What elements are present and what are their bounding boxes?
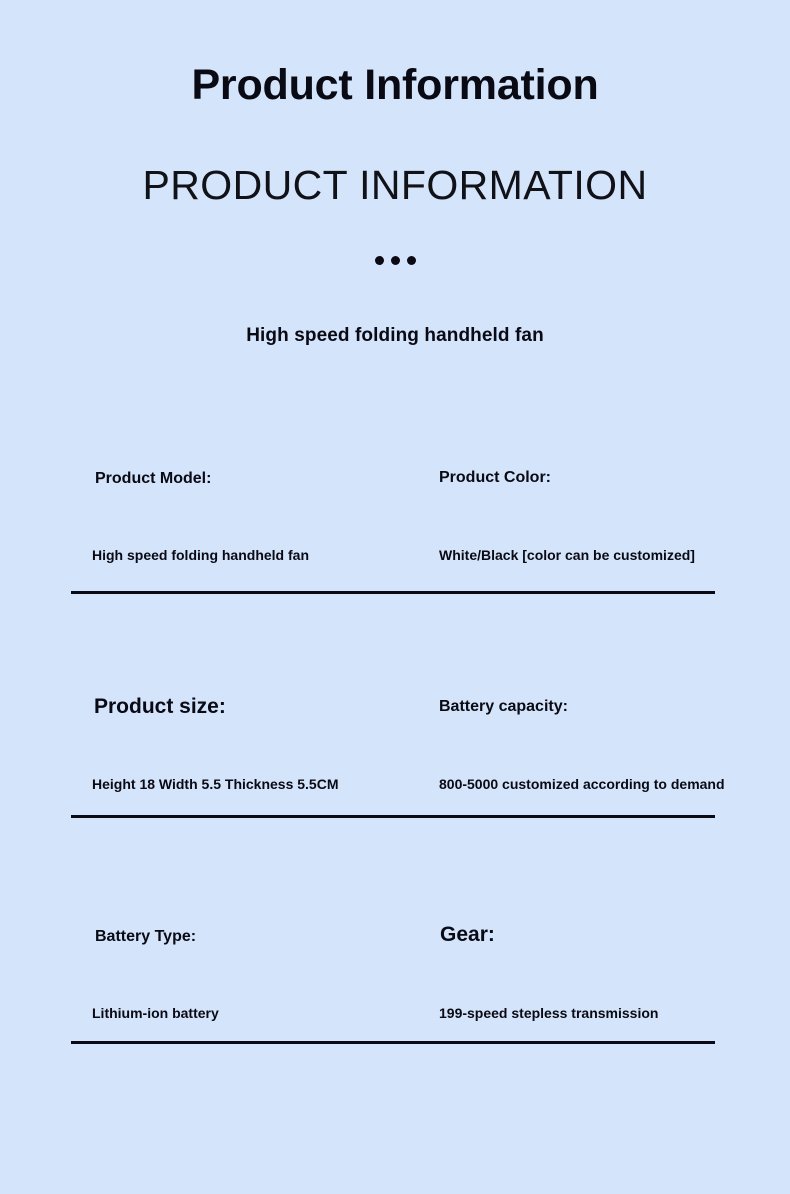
spec-value: High speed folding handheld fan xyxy=(92,547,309,564)
page-subtitle: PRODUCT INFORMATION xyxy=(0,163,790,208)
product-name-heading: High speed folding handheld fan xyxy=(0,325,790,347)
spec-label: Gear: xyxy=(440,922,739,947)
dot-icon xyxy=(407,256,416,265)
spec-label: Battery Type: xyxy=(95,927,437,946)
spec-cell-battery-capacity: Battery capacity: 800-5000 customized ac… xyxy=(439,684,739,716)
spec-label: Product size: xyxy=(94,694,437,719)
spec-value: 199-speed stepless transmission xyxy=(439,1005,658,1022)
product-information-page: Product Information PRODUCT INFORMATION … xyxy=(0,0,790,1194)
spec-value: Lithium-ion battery xyxy=(92,1005,219,1022)
spec-cell-product-color: Product Color: White/Black [color can be… xyxy=(439,455,739,487)
spec-cell-battery-type: Battery Type: Lithium-ion battery xyxy=(92,913,437,946)
dot-icon xyxy=(391,256,400,265)
row-divider xyxy=(71,815,715,818)
spec-cell-product-model: Product Model: High speed folding handhe… xyxy=(92,455,437,488)
spec-value: Height 18 Width 5.5 Thickness 5.5CM xyxy=(92,776,339,793)
spec-cell-product-size: Product size: Height 18 Width 5.5 Thickn… xyxy=(92,684,437,719)
spec-cell-gear: Gear: 199-speed stepless transmission xyxy=(439,913,739,947)
row-divider xyxy=(71,591,715,594)
spec-label: Battery capacity: xyxy=(439,697,739,716)
spec-value: 800-5000 customized according to demand xyxy=(439,776,725,793)
spec-label: Product Model: xyxy=(95,469,437,488)
dot-separator xyxy=(0,256,790,265)
spec-label: Product Color: xyxy=(439,468,739,487)
row-divider xyxy=(71,1041,715,1044)
dot-icon xyxy=(375,256,384,265)
spec-value: White/Black [color can be customized] xyxy=(439,547,695,564)
page-title: Product Information xyxy=(0,62,790,109)
